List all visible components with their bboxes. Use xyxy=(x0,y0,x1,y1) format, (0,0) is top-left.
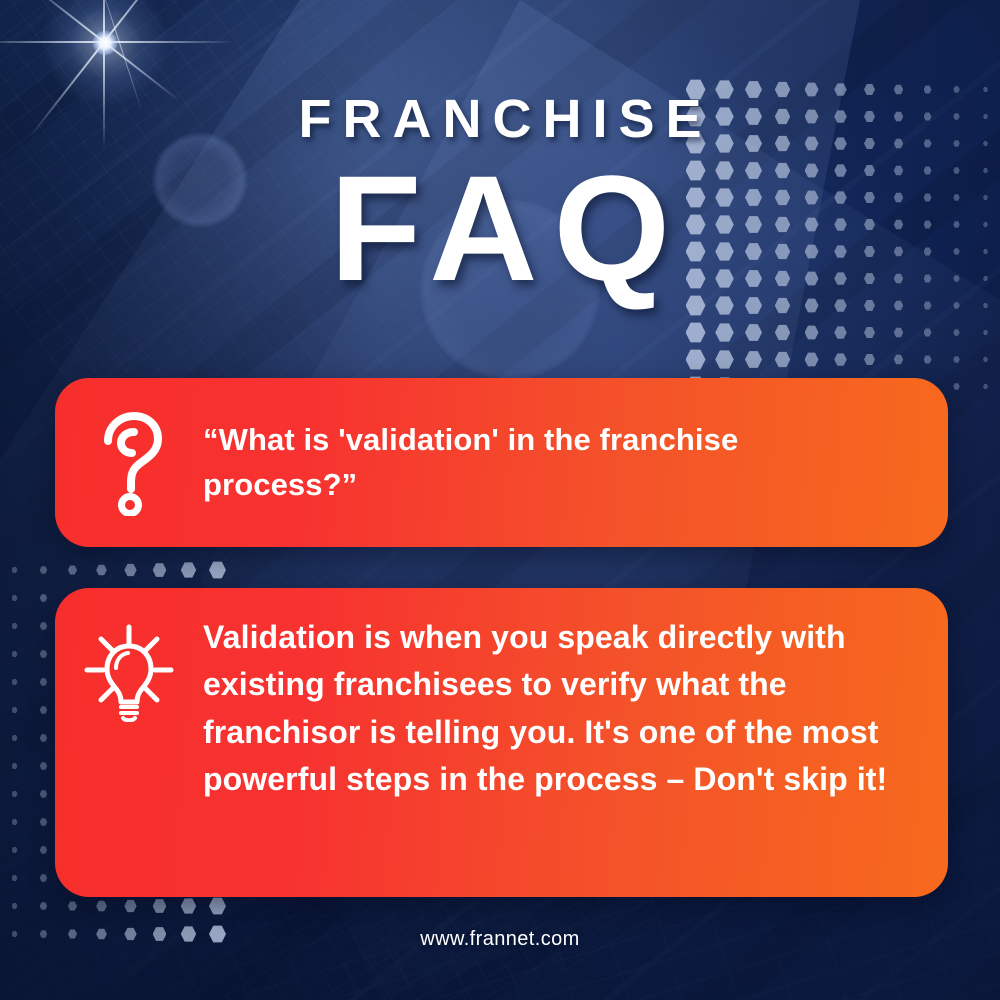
hexagon-dot xyxy=(12,847,18,854)
hexagon-dot xyxy=(40,622,48,630)
hexagon-dot xyxy=(12,707,18,714)
hexagon-dot xyxy=(983,330,988,336)
hexagon-dot xyxy=(775,324,791,341)
faq-graphic: FRANCHISE FAQ “What is 'validation' in t… xyxy=(0,0,1000,1000)
hexagon-dot xyxy=(96,564,107,576)
hexagon-dot xyxy=(12,735,18,742)
lightbulb-icon xyxy=(55,588,203,722)
hexagon-dot xyxy=(805,352,819,367)
hexagon-dot xyxy=(864,326,875,338)
hexagon-dot xyxy=(153,562,167,577)
hexagon-dot xyxy=(12,679,18,686)
hexagon-dot xyxy=(715,349,734,369)
hexagon-dot xyxy=(894,354,904,364)
hexagon-dot xyxy=(40,594,48,602)
answer-text: Validation is when you speak directly wi… xyxy=(203,588,948,803)
hexagon-dot xyxy=(40,734,48,742)
hexagon-dot xyxy=(40,706,48,714)
hexagon-dot xyxy=(209,561,226,580)
hexagon-dot xyxy=(40,762,48,770)
hexagon-dot xyxy=(983,357,988,363)
hexagon-dot xyxy=(805,325,819,340)
hexagon-dot xyxy=(124,563,136,577)
question-text: “What is 'validation' in the franchise p… xyxy=(203,418,948,506)
hexagon-dot xyxy=(40,874,48,882)
hexagon-dot xyxy=(12,595,18,602)
hexagon-dot xyxy=(924,355,932,364)
hexagon-dot xyxy=(153,898,167,913)
hexagon-dot xyxy=(953,383,960,390)
hexagon-dot xyxy=(686,349,706,371)
hexagon-dot xyxy=(40,846,48,854)
title-faq: FAQ xyxy=(16,150,1000,308)
hexagon-dot xyxy=(96,900,107,912)
hexagon-dot xyxy=(864,353,875,365)
hexagon-dot xyxy=(12,903,18,910)
title-franchise: FRANCHISE xyxy=(11,92,1000,146)
hexagon-dot xyxy=(12,875,18,882)
hexagon-dot xyxy=(124,899,136,913)
hexagon-dot xyxy=(68,901,77,911)
hexagon-dot xyxy=(924,328,932,337)
hexagon-dot xyxy=(40,818,48,826)
hexagon-dot xyxy=(953,356,960,363)
hexagon-dot xyxy=(953,329,960,336)
hexagon-dot xyxy=(40,678,48,686)
hexagon-dot xyxy=(12,623,18,630)
hexagon-dot xyxy=(983,384,988,390)
hexagon-dot xyxy=(40,902,48,910)
answer-card[interactable]: Validation is when you speak directly wi… xyxy=(55,588,948,897)
hexagon-dot xyxy=(68,565,77,575)
hexagon-dot xyxy=(12,651,18,658)
hexagon-dot xyxy=(12,763,18,770)
hexagon-dot xyxy=(209,897,226,916)
hexagon-dot xyxy=(775,351,791,368)
lens-flare-star-icon xyxy=(104,42,106,44)
hexagon-dot xyxy=(181,562,196,579)
hexagon-dot xyxy=(834,326,847,340)
hexagon-dot xyxy=(12,567,18,574)
hexagon-dot xyxy=(40,650,48,658)
hexagon-dot xyxy=(12,819,18,826)
hexagon-dot xyxy=(745,323,762,342)
footer-website[interactable]: www.frannet.com xyxy=(0,928,1000,951)
hexagon-dot xyxy=(745,350,762,369)
question-mark-icon xyxy=(55,410,203,516)
hexagon-dot xyxy=(686,322,706,344)
hexagon-dot xyxy=(12,791,18,798)
page-title: FRANCHISE FAQ xyxy=(0,92,1000,308)
hexagon-dot xyxy=(181,898,196,915)
hexagon-dot xyxy=(715,322,734,342)
hexagon-dot xyxy=(834,353,847,367)
hexagon-dot xyxy=(40,790,48,798)
hexagon-dot xyxy=(40,566,48,574)
hexagon-dot xyxy=(894,327,904,337)
question-card[interactable]: “What is 'validation' in the franchise p… xyxy=(55,378,948,547)
